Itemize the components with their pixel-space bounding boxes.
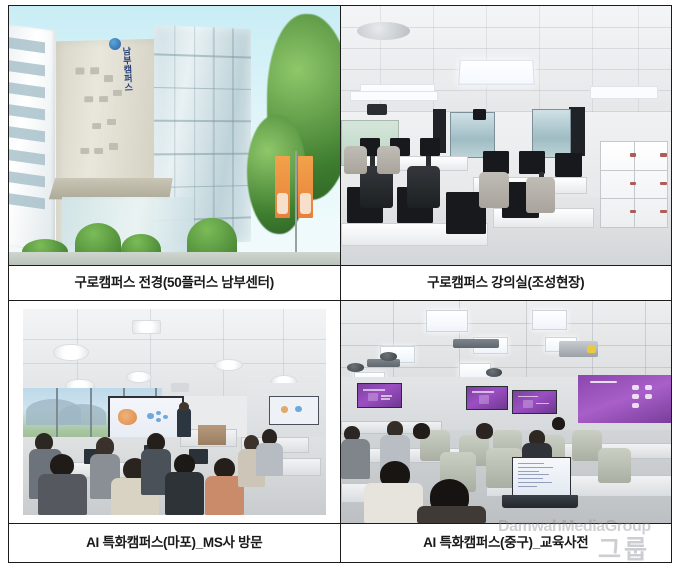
caption-cell-bottom-right: AI 특화캠퍼스(중구)_교육사전	[340, 524, 672, 563]
ceiling-projector	[559, 341, 599, 357]
ground-strip	[9, 252, 340, 265]
photo-grid-table: 남부캠퍼스	[8, 5, 672, 563]
caption-guro-exterior: 구로캠퍼스 전경(50플러스 남부센터)	[9, 276, 340, 291]
image-row-2	[9, 301, 672, 524]
entrance-canopy	[49, 178, 173, 200]
attendee-body-9	[256, 443, 283, 476]
presenter	[177, 408, 191, 437]
caption-cell-top-right: 구로캠퍼스 강의실(조성현장)	[340, 265, 672, 301]
chair-b2	[377, 146, 400, 174]
banner-pole	[295, 151, 297, 265]
ceiling-strip-light-right	[590, 86, 658, 98]
participant-head-4	[476, 423, 493, 439]
participant-body-1	[341, 439, 371, 479]
slide-brain-graphic	[118, 409, 137, 425]
attendee-head-3	[96, 437, 114, 456]
ceiling-downlight-1	[53, 344, 88, 360]
caption-guro-classroom: 구로캠퍼스 강의실(조성현장)	[341, 276, 672, 291]
laptop-screen-foreground	[512, 457, 570, 497]
image-cell-top-left: 남부캠퍼스	[9, 6, 341, 266]
ceiling-dome-vent	[357, 22, 410, 40]
street-banner-left	[275, 156, 290, 218]
ceiling-rail-light	[132, 320, 161, 334]
projector	[367, 104, 387, 114]
ceiling-panel-light-1	[426, 310, 468, 332]
participant-body-7	[417, 506, 486, 524]
caption-cell-top-left: 구로캠퍼스 전경(50플러스 남부센터)	[9, 265, 341, 301]
ceiling-vent-1	[453, 339, 499, 348]
laptop-base-foreground	[502, 495, 578, 508]
ceiling-speaker-1	[380, 352, 397, 361]
photo-canvas-1: 남부캠퍼스	[9, 6, 340, 265]
attendee-head-6	[174, 454, 195, 475]
podium	[198, 425, 225, 446]
wall-mounted-display	[473, 109, 486, 119]
chair-f2	[407, 166, 440, 207]
photo-grid-figure: 남부캠퍼스	[0, 0, 680, 582]
secondary-screen	[269, 396, 319, 425]
guro-campus-classroom-photo	[341, 6, 672, 265]
ceiling-strip-light-mid	[360, 84, 435, 92]
presentation-screen	[108, 396, 185, 439]
ai-campus-junggu-training-photo	[341, 301, 672, 523]
ceiling-panel-light-2	[532, 310, 567, 330]
main-projection-wall	[578, 375, 671, 424]
attendee-head-2	[50, 454, 74, 477]
photo-canvas-3	[23, 309, 326, 515]
chair-8	[598, 448, 631, 484]
ceiling-strip-light-left	[350, 91, 438, 101]
participant-body-6	[364, 483, 423, 523]
image-cell-bottom-right	[340, 301, 672, 524]
window-blind-right	[569, 107, 586, 156]
caption-row-2: AI 특화캠퍼스(마포)_MS사 방문 AI 특화캠퍼스(중구)_교육사전	[9, 524, 672, 563]
ceiling-projector	[171, 383, 189, 391]
participant-head-3	[413, 423, 430, 439]
participant-head-5	[552, 417, 565, 430]
photo-canvas-4	[341, 301, 672, 523]
street-banner-right	[298, 156, 313, 218]
chair-5	[572, 430, 602, 461]
wall-display-right	[512, 390, 557, 414]
photo-canvas-2	[341, 6, 672, 265]
caption-row-1: 구로캠퍼스 전경(50플러스 남부센터) 구로캠퍼스 강의실(조성현장)	[9, 265, 672, 301]
ceiling-downlight-4	[214, 359, 243, 371]
chair-m1	[479, 172, 509, 208]
wall-display-left	[357, 383, 402, 407]
caption-ai-campus-junggu: AI 특화캠퍼스(중구)_교육사전	[341, 536, 672, 551]
caption-ai-campus-mapo: AI 특화캠퍼스(마포)_MS사 방문	[9, 536, 340, 551]
attendee-body-6	[165, 472, 204, 515]
chair-m2	[526, 177, 556, 213]
wall-display-center	[466, 386, 508, 410]
ai-campus-mapo-ms-visit-photo	[9, 301, 340, 523]
image-cell-top-right	[340, 6, 672, 266]
guro-campus-exterior-photo: 남부캠퍼스	[9, 6, 340, 265]
monitor-m3	[555, 153, 581, 176]
image-row-1: 남부캠퍼스	[9, 6, 672, 266]
locker-cabinet	[600, 141, 668, 228]
chair-b1	[344, 146, 367, 174]
ceiling-panel-light-main	[459, 60, 535, 85]
ceiling-speaker-2	[486, 368, 503, 377]
attendee-body-2	[38, 474, 86, 515]
caption-cell-bottom-left: AI 특화캠퍼스(마포)_MS사 방문	[9, 524, 341, 563]
building-sign-text: 남부캠퍼스	[107, 47, 136, 162]
neighbor-building	[9, 23, 55, 253]
attendee-head-7	[214, 458, 235, 479]
image-cell-bottom-left	[9, 301, 341, 524]
monitor-b3	[420, 138, 440, 156]
